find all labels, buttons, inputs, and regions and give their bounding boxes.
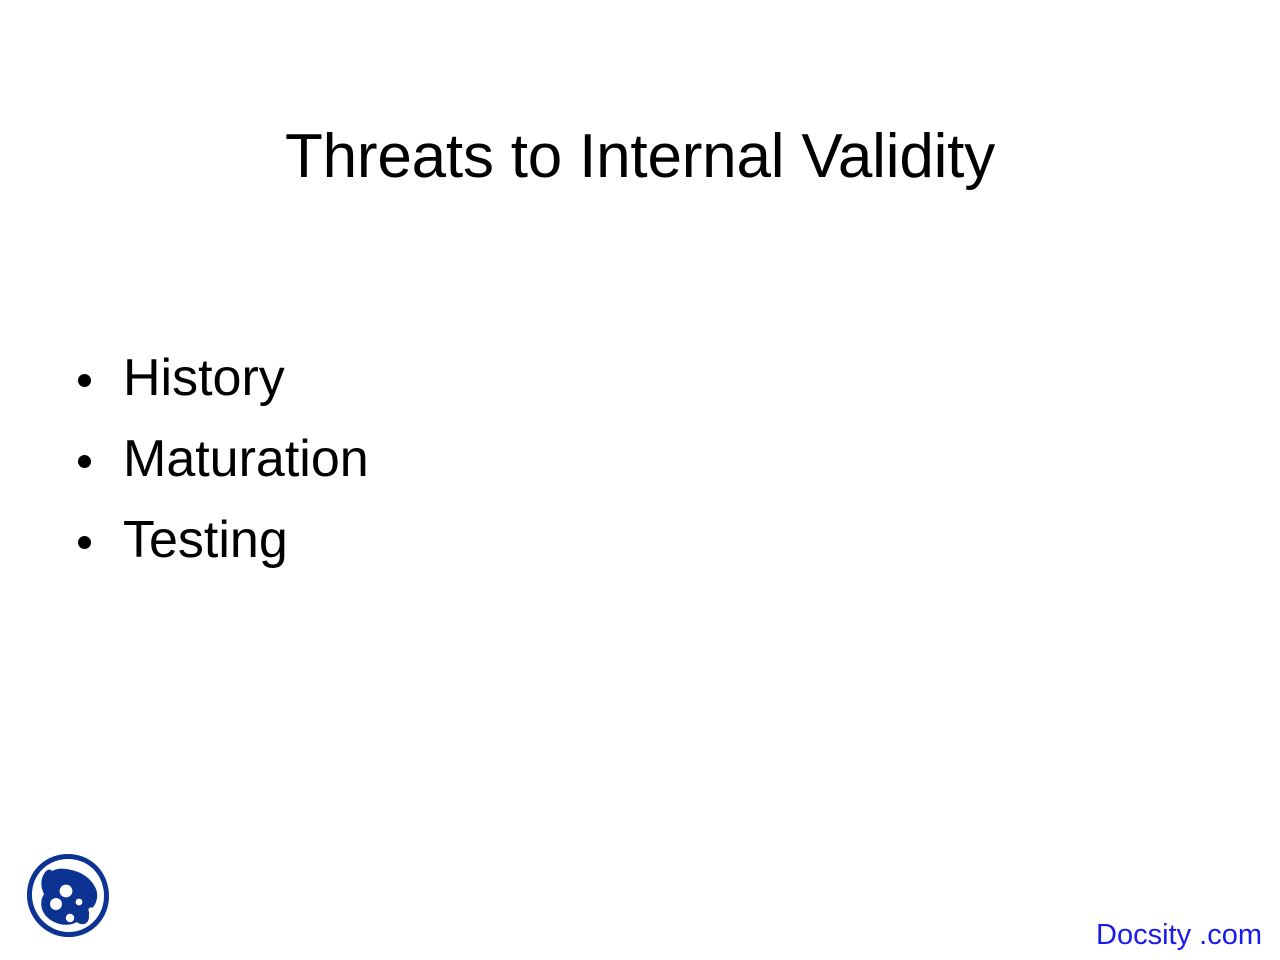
presentation-slide: Threats to Internal Validity History Mat… xyxy=(0,0,1280,960)
list-item: Testing xyxy=(72,512,1072,593)
list-item: History xyxy=(72,350,1072,431)
bullet-list: History Maturation Testing xyxy=(72,350,1072,593)
docsity-logo-icon xyxy=(20,848,116,944)
list-item: Maturation xyxy=(72,431,1072,512)
bullet-point-icon xyxy=(72,431,123,487)
bullet-item-label: Testing xyxy=(123,512,288,568)
bullet-item-label: History xyxy=(123,350,285,406)
bullet-item-label: Maturation xyxy=(123,431,369,487)
page-title: Threats to Internal Validity xyxy=(0,124,1280,189)
bullet-point-icon xyxy=(72,512,123,568)
docsity-wordmark: Docsity .com xyxy=(1096,919,1262,952)
bullet-point-icon xyxy=(72,350,123,406)
